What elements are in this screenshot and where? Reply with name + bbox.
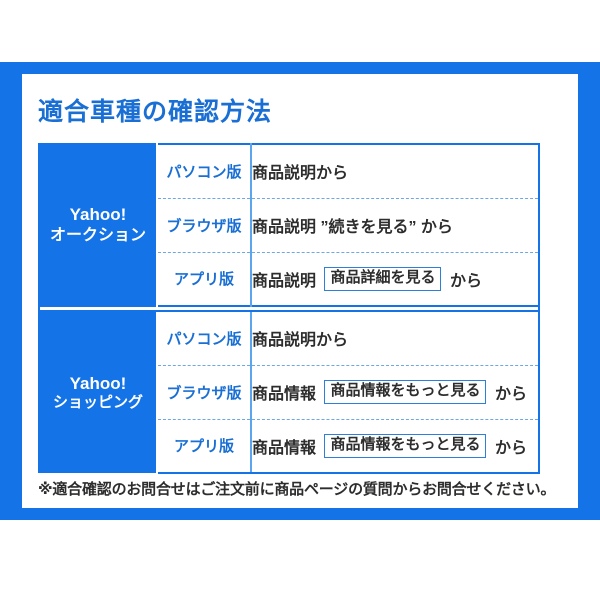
brand-service: ショッピング — [40, 394, 156, 413]
description-text-before: 商品情報 — [252, 386, 316, 403]
brand-name: Yahoo! — [40, 204, 156, 225]
description-text-before: 商品説明から — [252, 165, 348, 182]
platform-label: ブラウザ版 — [157, 198, 251, 252]
table-row: Yahoo! ショッピング パソコン版 商品説明から — [39, 311, 539, 365]
description-text-after: から — [495, 440, 527, 457]
ui-button-reference: 商品情報をもっと見る — [324, 434, 486, 458]
description-text-after: から — [450, 273, 482, 290]
content-panel: 適合車種の確認方法 Yahoo! オークション パソコン版 商品説明から — [22, 74, 578, 508]
page-title: 適合車種の確認方法 — [38, 92, 272, 128]
description-cell: 商品説明から — [251, 311, 539, 365]
description-text-before: 商品説明 ”続きを見る” から — [252, 219, 453, 236]
description-text-before: 商品説明 — [252, 273, 316, 290]
brand-cell-auction: Yahoo! オークション — [39, 144, 157, 306]
description-cell: 商品情報 商品情報をもっと見る から — [251, 419, 539, 473]
ui-button-reference: 商品情報をもっと見る — [324, 380, 486, 404]
platform-label: ブラウザ版 — [157, 365, 251, 419]
platform-label: アプリ版 — [157, 252, 251, 306]
description-cell: 商品説明 ”続きを見る” から — [251, 198, 539, 252]
description-text-before: 商品説明から — [252, 332, 348, 349]
platform-label: アプリ版 — [157, 419, 251, 473]
description-text-after: から — [495, 386, 527, 403]
description-cell: 商品説明から — [251, 144, 539, 198]
table-row: Yahoo! オークション パソコン版 商品説明から — [39, 144, 539, 198]
screenshot-root: 適合車種の確認方法 Yahoo! オークション パソコン版 商品説明から — [0, 0, 600, 600]
brand-cell-shopping: Yahoo! ショッピング — [39, 311, 157, 473]
brand-service: オークション — [40, 226, 156, 246]
platform-label: パソコン版 — [157, 311, 251, 365]
compatibility-table: Yahoo! オークション パソコン版 商品説明から ブラウザ版 商品説明 ”続… — [38, 143, 540, 474]
description-text-before: 商品情報 — [252, 440, 316, 457]
brand-name: Yahoo! — [40, 373, 156, 394]
description-cell: 商品説明 商品詳細を見る から — [251, 252, 539, 306]
footer-note: ※適合確認のお問合せはご注文前に商品ページの質問からお問合せください。 — [38, 478, 566, 499]
platform-label: パソコン版 — [157, 144, 251, 198]
ui-button-reference: 商品詳細を見る — [324, 267, 441, 291]
blue-frame: 適合車種の確認方法 Yahoo! オークション パソコン版 商品説明から — [0, 62, 600, 520]
description-cell: 商品情報 商品情報をもっと見る から — [251, 365, 539, 419]
